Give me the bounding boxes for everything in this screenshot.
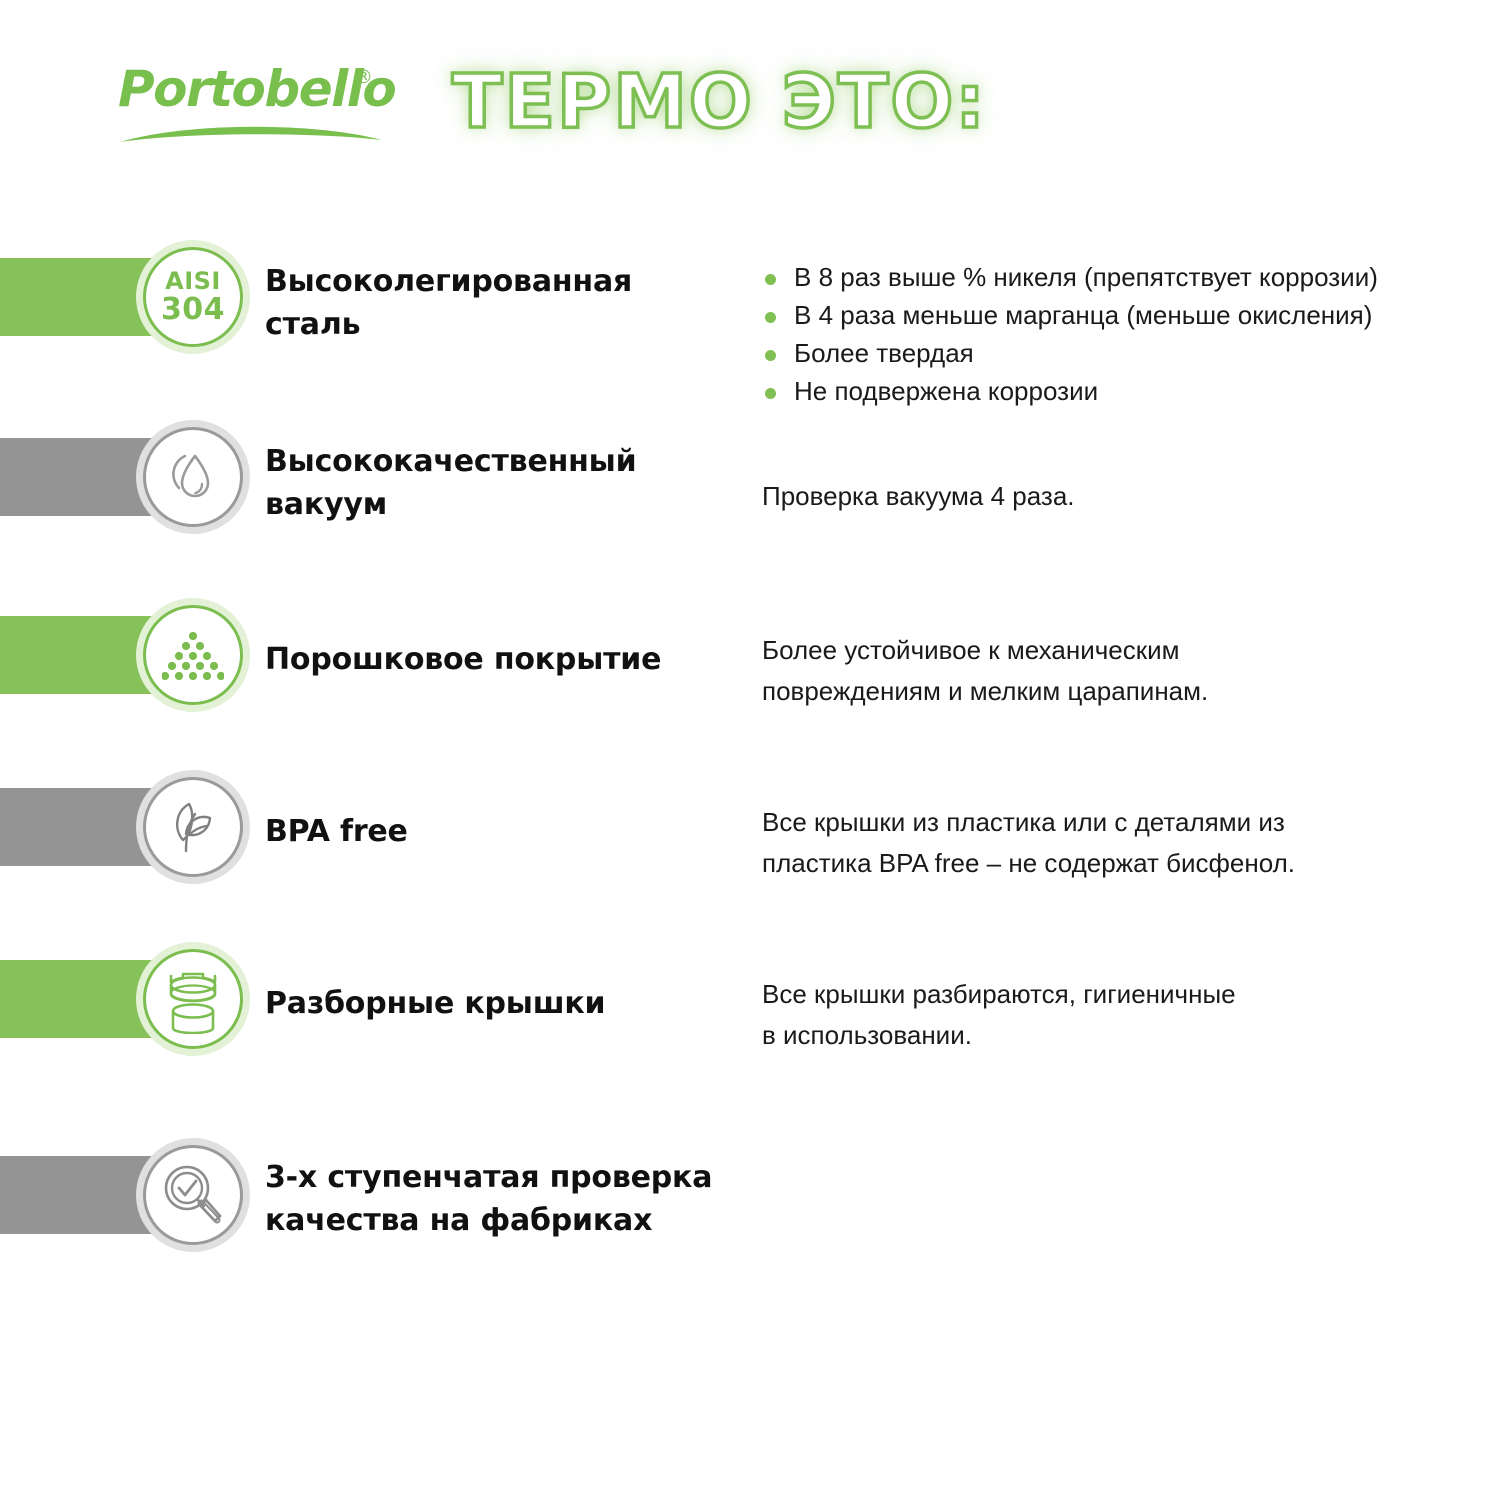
aisi-label: AISI [161, 269, 225, 294]
feature-icon-badge [136, 598, 250, 712]
aisi-grade: 304 [161, 294, 225, 326]
detachable-lid-icon [143, 949, 243, 1049]
feature-description: Проверка вакуума 4 раза. [762, 476, 1075, 517]
feature-heading: BPA free [265, 810, 408, 853]
aisi-304-badge-icon: AISI 304 [143, 247, 243, 347]
feature-icon-badge [136, 420, 250, 534]
feature-heading: Высоколегированная сталь [265, 260, 632, 346]
page-title-wrap: ТЕРМО ЭТО: [452, 52, 987, 152]
feature-description: Более устойчивое к механическим поврежде… [762, 630, 1208, 712]
feature-heading: Высококачественный вакуум [265, 440, 636, 526]
magnifier-check-quality-icon [143, 1145, 243, 1245]
feature-icon-badge [136, 770, 250, 884]
page-header: Portobello ® ТЕРМО ЭТО: [0, 0, 1500, 200]
leaves-bpa-free-icon [143, 777, 243, 877]
feature-heading: Разборные крышки [265, 982, 605, 1025]
list-item: Не подвержена коррозии [762, 372, 1378, 410]
feature-icon-badge [136, 942, 250, 1056]
list-item: Более твердая [762, 334, 1378, 372]
powder-dots-icon [143, 605, 243, 705]
feature-description: Все крышки из пластика или с деталями из… [762, 802, 1295, 884]
feature-description: Все крышки разбираются, гигиеничные в ис… [762, 974, 1236, 1056]
portobello-swoosh-icon [118, 120, 384, 146]
list-item: В 8 раз выше % никеля (препятствует корр… [762, 258, 1378, 296]
feature-heading: 3-х ступенчатая проверка качества на фаб… [265, 1156, 712, 1242]
registered-trademark-icon: ® [354, 66, 373, 88]
feature-icon-badge: AISI 304 [136, 240, 250, 354]
page-title: ТЕРМО ЭТО: [452, 52, 987, 152]
feature-heading: Порошковое покрытие [265, 638, 661, 681]
list-item: В 4 раза меньше марганца (меньше окислен… [762, 296, 1378, 334]
feature-icon-badge [136, 1138, 250, 1252]
feature-bullet-list: В 8 раз выше % никеля (препятствует корр… [762, 258, 1378, 410]
portobello-logo: Portobello ® [118, 58, 388, 153]
water-drop-vacuum-icon [143, 427, 243, 527]
